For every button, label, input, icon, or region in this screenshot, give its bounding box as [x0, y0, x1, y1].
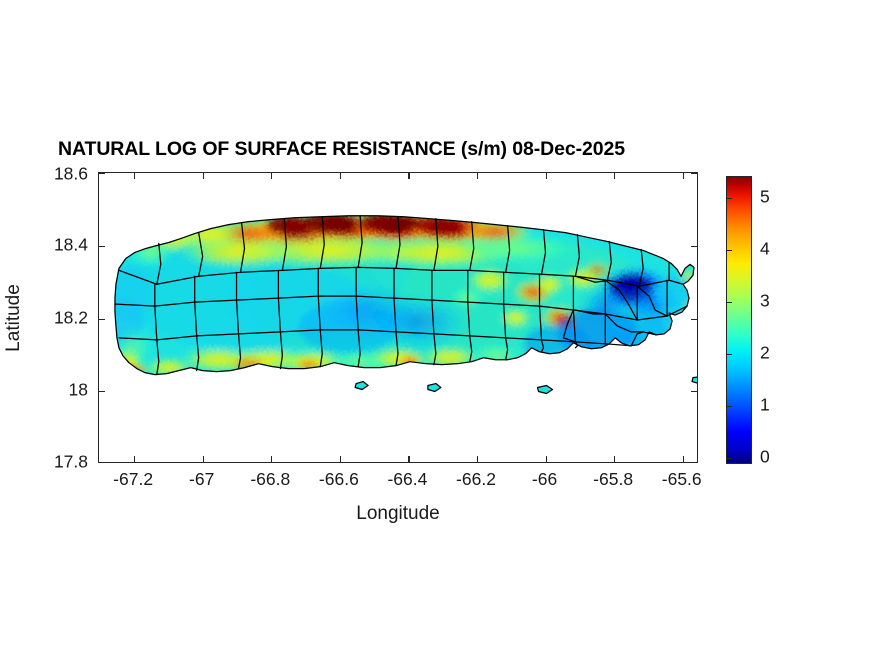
x-tick — [683, 456, 684, 462]
x-tick-label: -66.4 — [387, 469, 427, 490]
x-tick-label: -65.6 — [662, 469, 702, 490]
colorbar-label: 4 — [760, 239, 770, 260]
x-tick-top — [614, 173, 615, 179]
x-axis-label: Longitude — [356, 503, 439, 525]
colorbar[interactable] — [726, 176, 752, 464]
x-tick — [271, 456, 272, 462]
x-tick-top — [203, 173, 204, 179]
x-tick-label: -66.2 — [456, 469, 496, 490]
x-tick-label: -66.6 — [319, 469, 359, 490]
y-tick — [99, 246, 105, 247]
x-tick — [546, 456, 547, 462]
y-tick — [99, 173, 105, 174]
x-tick-label: -65.8 — [593, 469, 633, 490]
x-tick — [134, 456, 135, 462]
y-tick-label: 17.8 — [42, 452, 88, 473]
map-axes[interactable] — [98, 172, 698, 463]
x-tick-top — [134, 173, 135, 179]
x-tick — [408, 456, 409, 462]
x-tick-top — [477, 173, 478, 179]
matlab-figure-canvas: NATURAL LOG OF SURFACE RESISTANCE (s/m) … — [0, 0, 875, 656]
colorbar-tick — [727, 198, 732, 199]
x-tick-label: -66 — [532, 469, 557, 490]
surface-resistance-heatmap — [99, 173, 697, 462]
colorbar-label: 2 — [760, 343, 770, 364]
y-tick-right — [691, 246, 697, 247]
colorbar-label: 1 — [760, 395, 770, 416]
x-tick-top — [546, 173, 547, 179]
colorbar-label: 5 — [760, 187, 770, 208]
y-tick-right — [691, 391, 697, 392]
x-tick — [614, 456, 615, 462]
x-tick-top — [271, 173, 272, 179]
page-title: NATURAL LOG OF SURFACE RESISTANCE (s/m) … — [58, 138, 625, 161]
colorbar-tick — [727, 354, 732, 355]
colorbar-tick — [727, 406, 732, 407]
x-tick-top — [408, 173, 409, 179]
y-tick-label: 18 — [42, 380, 88, 401]
y-tick-label: 18.6 — [42, 164, 88, 185]
colorbar-tick — [727, 250, 732, 251]
colorbar-tick — [727, 458, 732, 459]
y-tick-label: 18.2 — [42, 308, 88, 329]
x-tick-label: -67 — [189, 469, 214, 490]
y-tick-label: 18.4 — [42, 235, 88, 256]
y-tick — [99, 319, 105, 320]
x-tick-label: -67.2 — [113, 469, 153, 490]
y-tick-right — [691, 173, 697, 174]
colorbar-label: 0 — [760, 447, 770, 468]
x-tick-top — [340, 173, 341, 179]
y-tick-right — [691, 319, 697, 320]
colorbar-label: 3 — [760, 291, 770, 312]
y-axis-label: Latitude — [3, 284, 25, 352]
colorbar-tick — [727, 302, 732, 303]
x-tick — [477, 456, 478, 462]
x-tick-top — [683, 173, 684, 179]
y-tick — [99, 391, 105, 392]
x-tick — [203, 456, 204, 462]
x-tick — [340, 456, 341, 462]
x-tick-label: -66.8 — [250, 469, 290, 490]
